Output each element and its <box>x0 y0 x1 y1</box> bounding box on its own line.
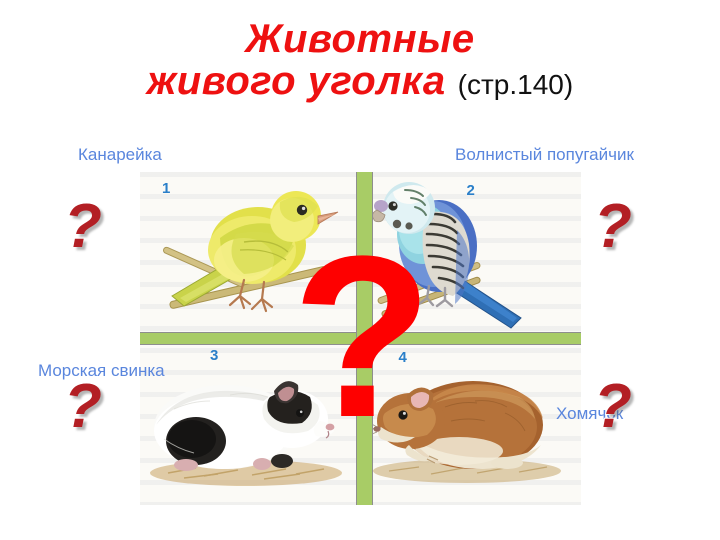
quadrant-number-1: 1 <box>162 180 170 197</box>
question-mark-center: ? <box>292 222 433 452</box>
question-mark-top-right: ? <box>594 196 632 258</box>
question-mark-top-left: ? <box>64 196 102 258</box>
quadrant-number-3: 3 <box>210 347 218 364</box>
page-reference: (стр.140) <box>458 69 574 100</box>
question-mark-bottom-left: ? <box>64 376 102 438</box>
page-title: Животные живого уголка(стр.140) <box>0 18 720 103</box>
quadrant-number-2: 2 <box>467 182 475 199</box>
title-line-1: Животные <box>0 18 720 60</box>
title-main-text-line1: Животные <box>245 17 474 61</box>
title-line-2: живого уголка(стр.140) <box>0 60 720 102</box>
slide-canvas: Животные живого уголка(стр.140) 1 <box>0 0 720 540</box>
label-budgerigar: Волнистый попугайчик <box>455 145 634 165</box>
label-canary: Канарейка <box>78 145 162 165</box>
question-mark-bottom-right: ? <box>594 376 632 438</box>
title-main-text-line2: живого уголка <box>147 59 446 103</box>
